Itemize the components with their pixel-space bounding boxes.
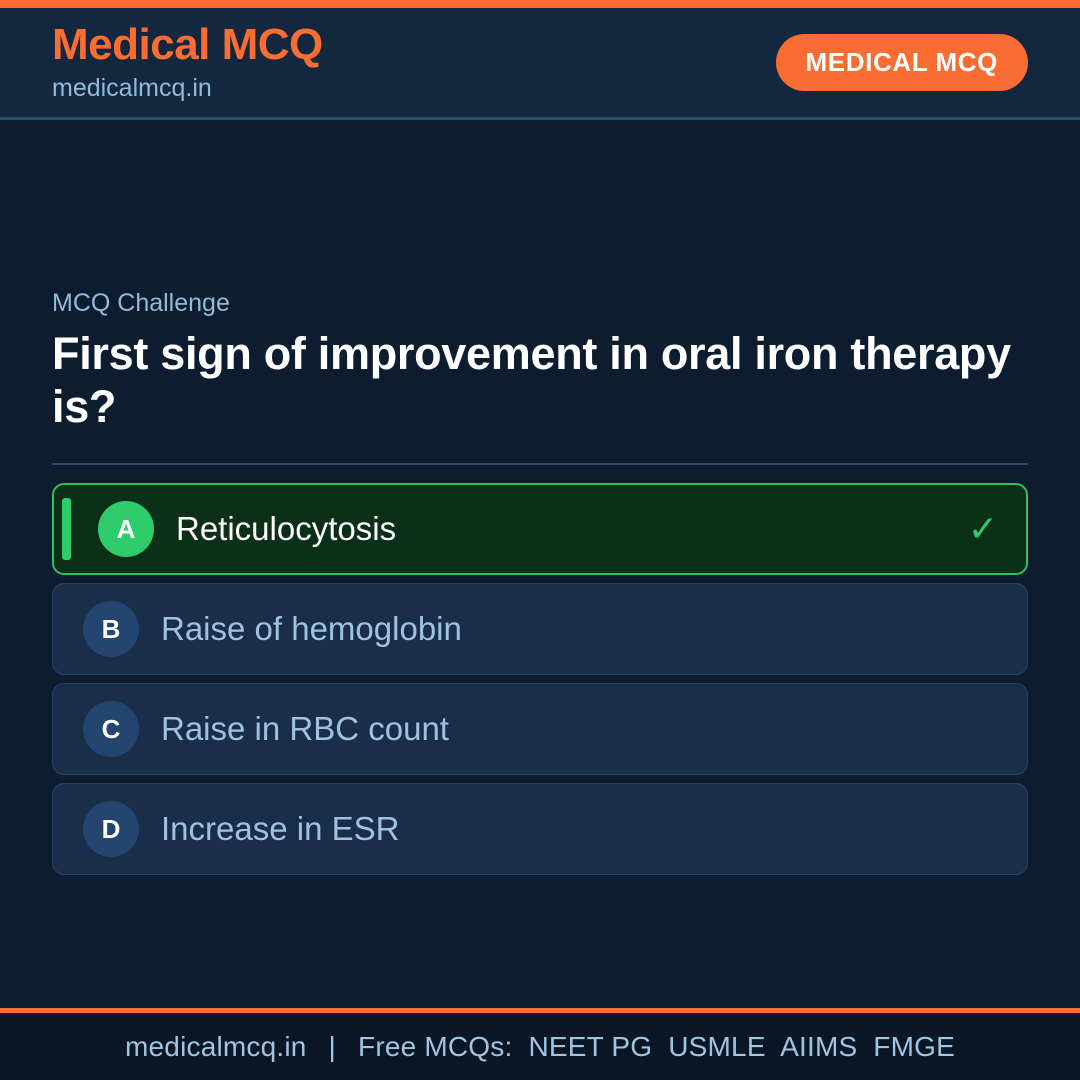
options-list: A Reticulocytosis ✓ B Raise of hemoglobi… [52, 483, 1028, 875]
option-a[interactable]: A Reticulocytosis ✓ [52, 483, 1028, 575]
question-text: First sign of improvement in oral iron t… [52, 328, 1012, 433]
option-c[interactable]: C Raise in RBC count [52, 683, 1028, 775]
question-eyebrow: MCQ Challenge [52, 288, 1028, 318]
brand-title: Medical MCQ [52, 22, 323, 68]
option-b-label: Raise of hemoglobin [161, 609, 999, 649]
option-b-badge: B [83, 601, 139, 657]
footer-site: medicalmcq.in [125, 1031, 307, 1062]
footer-tagline: Free MCQs: [358, 1031, 520, 1062]
option-d-badge: D [83, 801, 139, 857]
option-d[interactable]: D Increase in ESR [52, 783, 1028, 875]
correct-accent-bar [62, 498, 71, 560]
option-d-label: Increase in ESR [161, 809, 999, 849]
option-c-label: Raise in RBC count [161, 709, 999, 749]
mcq-card: Medical MCQ medicalmcq.in MEDICAL MCQ MC… [0, 0, 1080, 1080]
question-block: MCQ Challenge First sign of improvement … [52, 288, 1028, 465]
check-icon: ✓ [968, 511, 998, 547]
footer-separator: | [315, 1031, 350, 1062]
brand-subtitle: medicalmcq.in [52, 73, 323, 103]
option-a-label: Reticulocytosis [176, 509, 952, 549]
header-badge: MEDICAL MCQ [776, 34, 1028, 91]
main-content: MCQ Challenge First sign of improvement … [0, 120, 1080, 1008]
page-footer: medicalmcq.in | Free MCQs: NEET PG USMLE… [0, 1008, 1080, 1080]
footer-exams: NEET PG USMLE AIIMS FMGE [528, 1031, 955, 1062]
brand: Medical MCQ medicalmcq.in [52, 22, 323, 102]
question-divider [52, 463, 1028, 465]
option-c-badge: C [83, 701, 139, 757]
footer-content: medicalmcq.in | Free MCQs: NEET PG USMLE… [125, 1031, 955, 1063]
top-accent-bar [0, 0, 1080, 8]
option-a-badge: A [98, 501, 154, 557]
option-b[interactable]: B Raise of hemoglobin [52, 583, 1028, 675]
page-header: Medical MCQ medicalmcq.in MEDICAL MCQ [0, 8, 1080, 120]
